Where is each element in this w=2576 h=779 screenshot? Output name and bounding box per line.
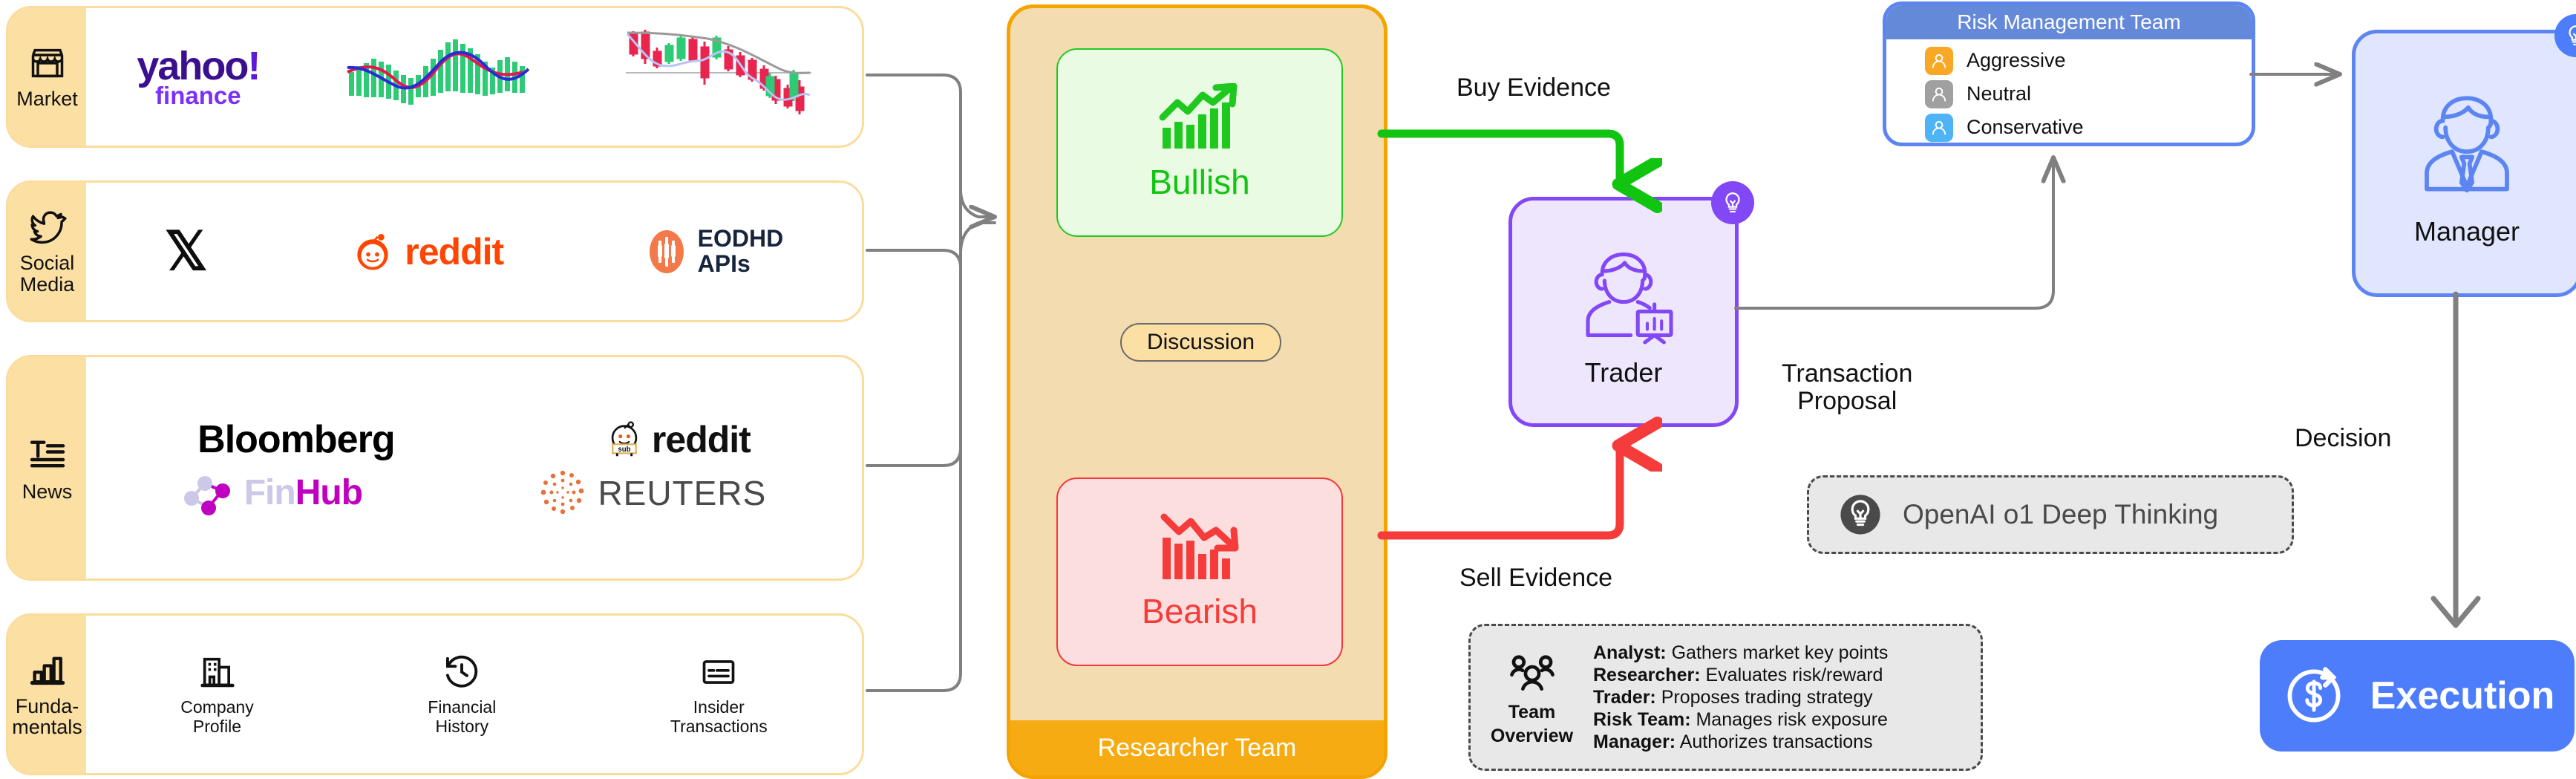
eodhd-apis-logo: EODHD APIs	[646, 226, 784, 276]
user-icon	[1925, 80, 1953, 108]
row-desc: Manages risk exposure	[1696, 709, 1887, 730]
edge-label-buy-evidence: Buy Evidence	[1457, 74, 1611, 102]
team-overview-row: Researcher: Evaluates risk/reward	[1593, 665, 1975, 686]
team-overview-box: Team Overview Analyst: Gathers market ke…	[1468, 624, 1983, 771]
openai-deep-thinking-badge[interactable]: OpenAI o1 Deep Thinking	[1807, 475, 2294, 554]
source-label-fundamentals: Funda- mentals	[8, 616, 86, 773]
execution-node[interactable]: Execution	[2260, 640, 2575, 752]
edge-label-sell-evidence: Sell Evidence	[1459, 564, 1612, 592]
bullish-label: Bullish	[1149, 162, 1250, 202]
risk-member-label: Aggressive	[1967, 49, 2066, 72]
bearish-node[interactable]: Bearish	[1056, 477, 1343, 666]
reddit-logo: reddit	[350, 229, 503, 275]
group-people-icon	[1506, 649, 1559, 698]
researcher-team-footer: Researcher Team	[1010, 720, 1384, 775]
bearish-label: Bearish	[1142, 591, 1258, 631]
eodhd-mark-icon	[646, 227, 687, 276]
finnhub-logo: FinHub	[182, 470, 362, 516]
svg-text:sub: sub	[618, 446, 630, 454]
volume-bars-chart-svg	[346, 33, 539, 121]
reuters-dots-icon	[538, 469, 587, 518]
source-label-text: Market	[16, 88, 78, 109]
source-card-social-media[interactable]: Social Media 𝕏 reddit	[6, 180, 864, 322]
source-body-market: yahoo! finance	[86, 8, 862, 146]
team-overview-title: Team Overview	[1471, 649, 1593, 746]
row-desc: Authorizes transactions	[1680, 731, 1873, 752]
team-overview-title-line1: Team	[1508, 703, 1555, 722]
clock-history-icon	[442, 653, 482, 691]
row-desc: Gathers market key points	[1672, 642, 1889, 663]
team-overview-row: Risk Team: Manages risk exposure	[1593, 709, 1975, 731]
manager-label: Manager	[2414, 216, 2520, 247]
manager-deep-thinking-badge[interactable]	[2554, 14, 2576, 57]
row-role: Risk Team:	[1593, 709, 1691, 730]
company-profile-item[interactable]: Company Profile	[180, 653, 253, 737]
volume-bars-chart	[346, 33, 539, 121]
item-caption: Financial History	[428, 698, 496, 737]
source-label-text: Funda- mentals	[12, 696, 82, 737]
reuters-logo: REUTERS	[538, 469, 766, 518]
source-label-text: Social Media	[20, 252, 75, 294]
trader-deep-thinking-badge[interactable]	[1711, 181, 1754, 224]
bar-chart-icon	[27, 651, 68, 690]
source-card-market[interactable]: Market yahoo! finance	[6, 6, 864, 148]
trader-node[interactable]: Trader	[1508, 197, 1739, 427]
risk-management-team-panel[interactable]: Risk Management Team Aggressive Neutral …	[1883, 1, 2255, 146]
risk-team-title: Risk Management Team	[1957, 10, 2180, 34]
row-role: Manager:	[1593, 731, 1676, 752]
source-body-social-media: 𝕏 reddit EODHD	[86, 183, 862, 320]
lightbulb-icon	[1720, 190, 1745, 215]
manager-person-suit-icon	[2400, 79, 2534, 213]
risk-team-member-list: Aggressive Neutral Conservative	[1886, 39, 2252, 144]
trader-label: Trader	[1585, 357, 1663, 388]
reddit-alien-icon	[350, 229, 396, 275]
twitter-bird-icon	[26, 208, 69, 247]
yahoo-finance-logo: yahoo! finance	[137, 46, 259, 108]
storefront-icon	[26, 44, 69, 82]
source-label-text: News	[22, 481, 73, 502]
risk-member-neutral[interactable]: Neutral	[1925, 77, 2252, 111]
downtrend-bar-chart-icon	[1158, 512, 1241, 587]
discussion-chip[interactable]: Discussion	[1120, 323, 1281, 362]
refresh-dollar-icon	[2280, 662, 2348, 730]
trader-person-presentation-icon	[1564, 235, 1683, 354]
item-caption: Insider Transactions	[670, 698, 768, 737]
team-overview-row: Trader: Proposes trading strategy	[1593, 687, 1975, 708]
team-overview-title-line2: Overview	[1491, 726, 1573, 746]
financial-history-item[interactable]: Financial History	[428, 653, 496, 737]
discussion-label: Discussion	[1147, 330, 1255, 355]
card-lines-icon	[698, 653, 739, 691]
researcher-team-panel[interactable]: Bullish Discussion Bearish Researcher Te…	[1007, 4, 1387, 779]
finnhub-mark-icon	[182, 470, 235, 516]
item-caption: Company Profile	[180, 698, 253, 737]
risk-member-conservative[interactable]: Conservative	[1925, 111, 2252, 144]
team-overview-row: Analyst: Gathers market key points	[1593, 642, 1975, 664]
row-desc: Evaluates risk/reward	[1705, 665, 1883, 685]
manager-node[interactable]: Manager	[2352, 30, 2576, 297]
researcher-team-title: Researcher Team	[1098, 734, 1297, 763]
candlestick-chart-svg	[626, 27, 811, 127]
edge-label-transaction-proposal: Transaction Proposal	[1782, 360, 1912, 414]
building-icon	[197, 653, 238, 691]
uptrend-bar-chart-icon	[1158, 83, 1241, 157]
team-overview-row: Manager: Authorizes transactions	[1593, 731, 1975, 753]
risk-team-header: Risk Management Team	[1886, 5, 2252, 39]
source-label-market: Market	[8, 8, 86, 146]
source-card-news[interactable]: News Bloomberg sub reddit	[6, 355, 864, 581]
execution-label: Execution	[2370, 674, 2555, 718]
x-twitter-logo: 𝕏	[165, 225, 208, 278]
risk-member-label: Neutral	[1967, 82, 2031, 105]
source-body-news: Bloomberg sub reddit	[86, 357, 862, 578]
user-icon	[1925, 114, 1953, 142]
row-role: Researcher:	[1593, 665, 1701, 685]
insider-transactions-item[interactable]: Insider Transactions	[670, 653, 768, 737]
row-role: Analyst:	[1593, 642, 1667, 663]
source-card-fundamentals[interactable]: Funda- mentals Company Profile Financial…	[6, 613, 864, 775]
lightbulb-icon	[2563, 23, 2576, 48]
user-icon	[1925, 47, 1953, 75]
bloomberg-logo: Bloomberg	[197, 420, 394, 459]
openai-badge-label: OpenAI o1 Deep Thinking	[1903, 499, 2218, 530]
team-overview-rows: Analyst: Gathers market key points Resea…	[1593, 642, 1981, 753]
source-body-fundamentals: Company Profile Financial History Inside…	[86, 616, 862, 773]
transaction-proposal-line1: Transaction	[1782, 360, 1912, 388]
risk-member-label: Conservative	[1967, 116, 2084, 139]
source-label-social-media: Social Media	[8, 183, 86, 320]
edge-label-decision: Decision	[2295, 425, 2391, 452]
row-desc: Proposes trading strategy	[1661, 687, 1873, 708]
bullish-node[interactable]: Bullish	[1056, 48, 1343, 237]
risk-member-aggressive[interactable]: Aggressive	[1925, 44, 2252, 77]
lightbulb-icon	[1839, 493, 1882, 536]
subreddit-alien-icon: sub	[603, 418, 646, 461]
source-label-news: News	[8, 357, 86, 578]
news-article-icon	[26, 434, 69, 475]
candlestick-chart	[626, 27, 811, 127]
transaction-proposal-line2: Proposal	[1782, 388, 1912, 415]
row-role: Trader:	[1593, 687, 1656, 708]
subreddit-logo: sub reddit	[603, 418, 751, 461]
